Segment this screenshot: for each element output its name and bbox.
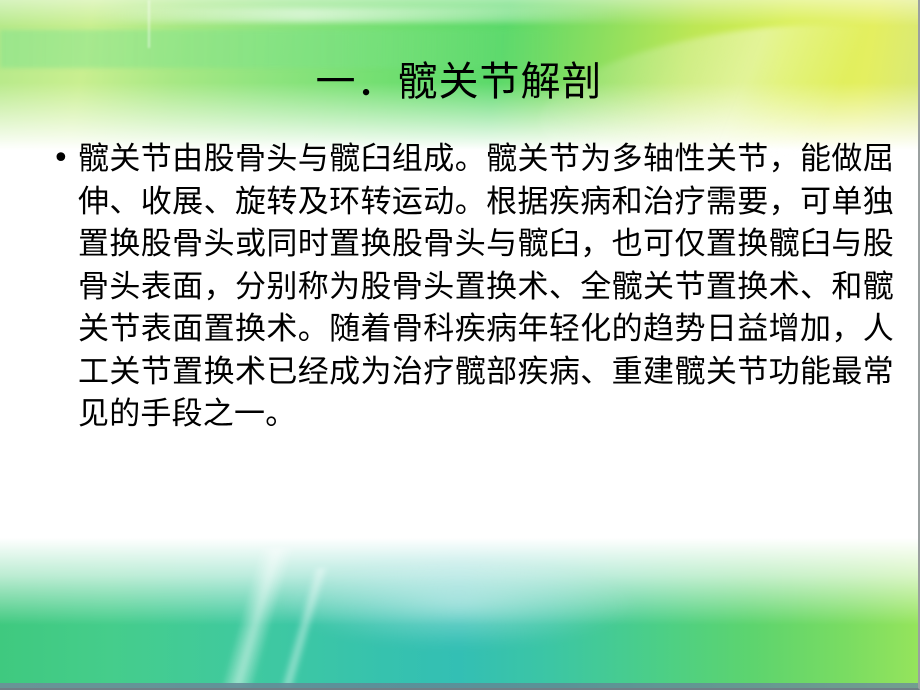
presentation-slide: 一．髋关节解剖 • 髋关节由股骨头与髋臼组成。髋关节为多轴性关节，能做屈伸、收展… [0, 0, 920, 690]
slide-content: 一．髋关节解剖 • 髋关节由股骨头与髋臼组成。髋关节为多轴性关节，能做屈伸、收展… [0, 0, 918, 688]
slide-title: 一．髋关节解剖 [0, 57, 918, 107]
slide-body: • 髋关节由股骨头与髋臼组成。髋关节为多轴性关节，能做屈伸、收展、旋转及环转运动… [48, 138, 894, 436]
bullet-body-text: 髋关节由股骨头与髋臼组成。髋关节为多轴性关节，能做屈伸、收展、旋转及环转运动。根… [78, 138, 894, 436]
bullet-point-icon: • [48, 138, 78, 180]
bullet-list-item: • 髋关节由股骨头与髋臼组成。髋关节为多轴性关节，能做屈伸、收展、旋转及环转运动… [48, 138, 894, 436]
